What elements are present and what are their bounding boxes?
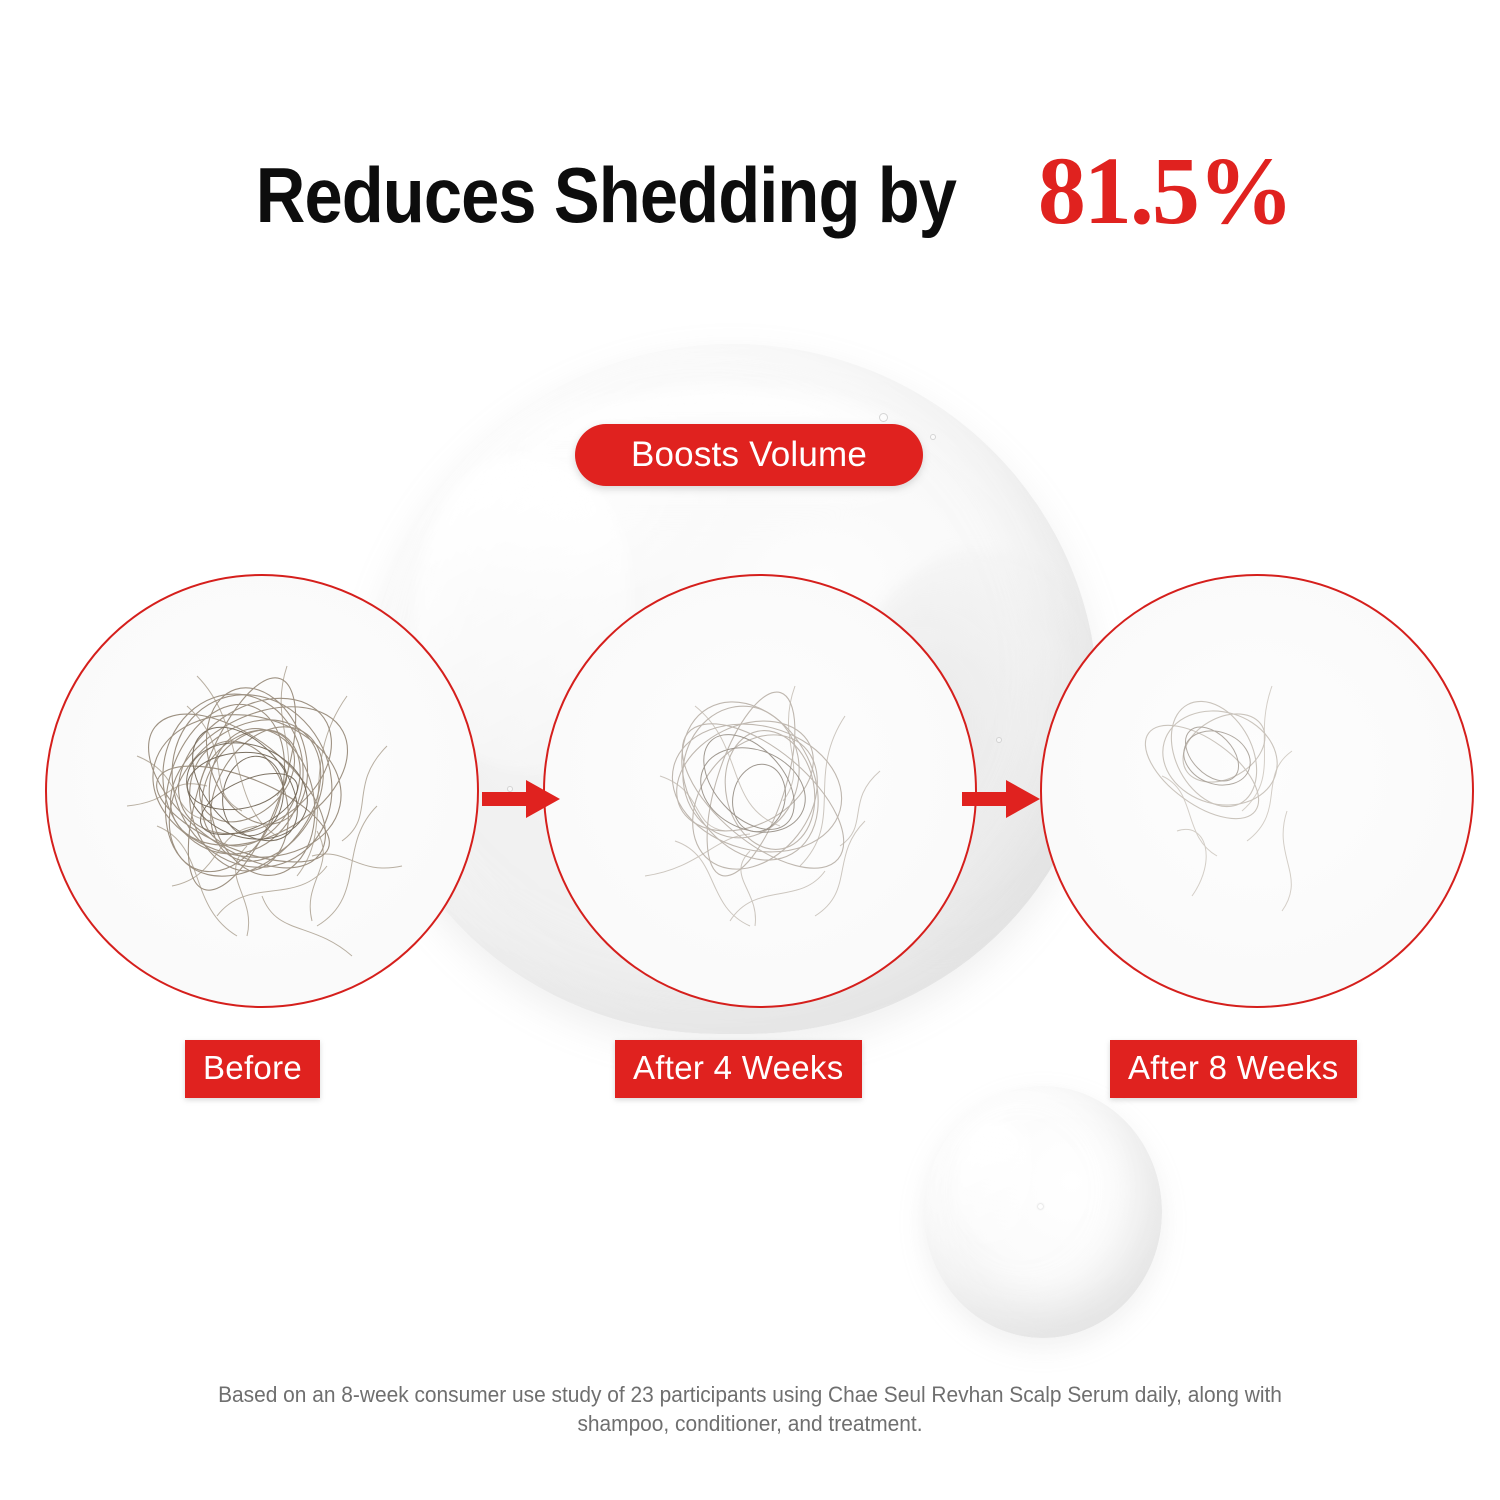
hair-tangle-heavy (47, 576, 477, 1006)
stage-label-after-4-weeks: After 4 Weeks (615, 1040, 862, 1098)
stage-label-after-8-weeks: After 8 Weeks (1110, 1040, 1357, 1098)
boosts-volume-badge: Boosts Volume (575, 424, 923, 486)
headline-percent: 81.5% (1038, 143, 1292, 239)
comparison-circle-after-8-weeks (1040, 574, 1474, 1008)
arrow-head (1006, 780, 1040, 818)
comparison-circle-after-4-weeks (543, 574, 977, 1008)
stage-label-text: Before (203, 1049, 302, 1086)
droplet-gloss (953, 1121, 1034, 1247)
headline-text: Reduces Shedding by (256, 156, 956, 234)
hair-tangle-light (1042, 576, 1472, 1006)
blob-bubble-icon (879, 413, 888, 422)
arrow-head (526, 780, 560, 818)
footnote: Based on an 8-week consumer use study of… (180, 1380, 1320, 1439)
droplet-highlight-dot (1038, 1204, 1043, 1209)
stage-label-text: After 8 Weeks (1128, 1049, 1339, 1086)
blob-bubble-icon (930, 434, 936, 440)
serum-droplet (924, 1086, 1162, 1338)
arrow-right-icon (482, 780, 560, 818)
stage-label-before: Before (185, 1040, 320, 1098)
boosts-volume-label: Boosts Volume (631, 435, 867, 475)
promo-canvas: Reduces Shedding by 81.5% Boosts Volume (0, 0, 1500, 1500)
stage-label-text: After 4 Weeks (633, 1049, 844, 1086)
hair-tangle-moderate (545, 576, 975, 1006)
page-title: Reduces Shedding by 81.5% (0, 140, 1500, 250)
comparison-circle-before (45, 574, 479, 1008)
arrow-right-icon (962, 780, 1040, 818)
